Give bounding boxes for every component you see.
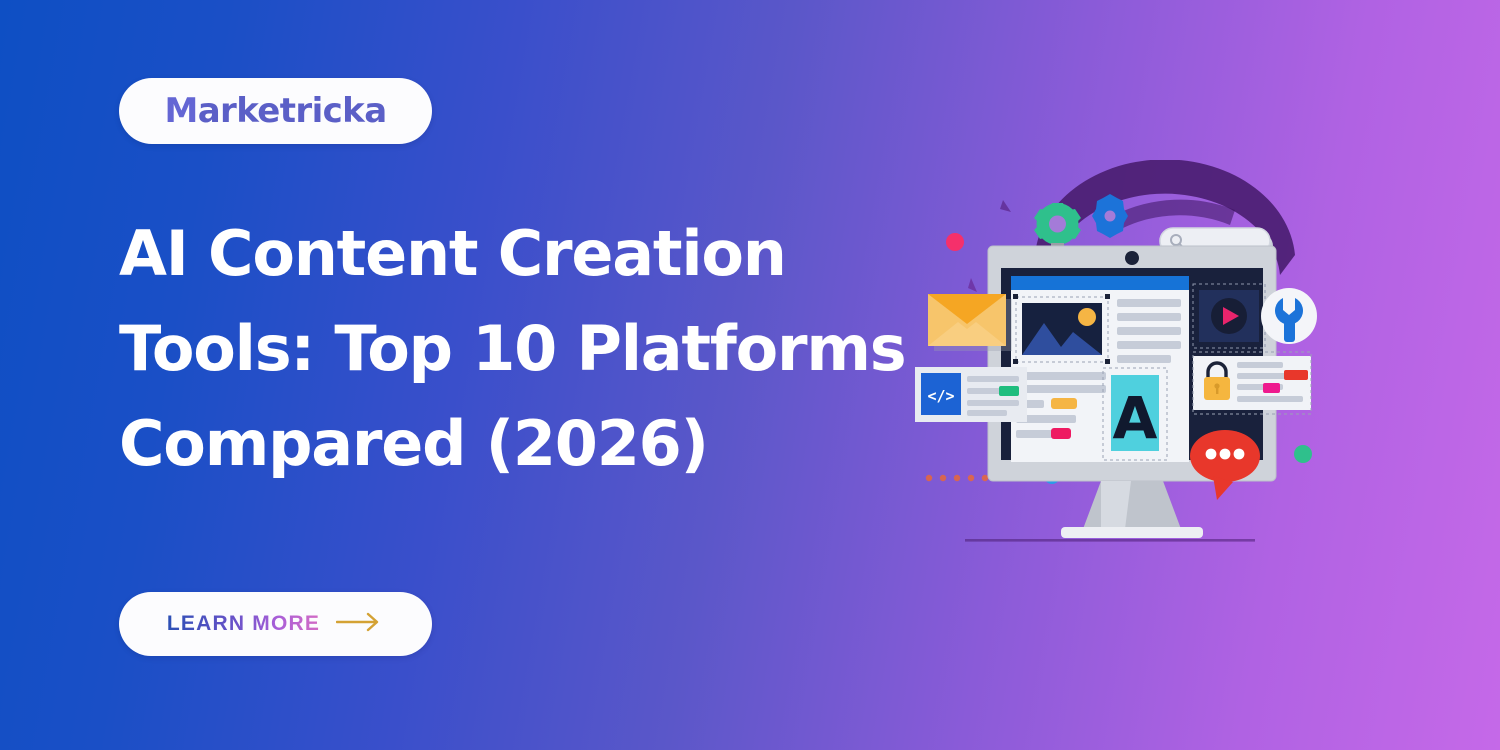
headline-block: AI Content Creation Tools: Top 10 Platfo… [119, 206, 929, 491]
headline-line-1: AI Content Creation [119, 206, 929, 301]
brand-logo-text: Marketricka [164, 91, 386, 131]
arrow-right-icon [336, 612, 384, 637]
dot-pink [946, 233, 964, 251]
lock-card [1193, 352, 1311, 414]
chip-orange [1051, 398, 1077, 409]
video-panel [1193, 284, 1265, 348]
brand-logo-initial: M [164, 91, 197, 131]
wrench-icon [1261, 288, 1317, 344]
chip-magenta [1263, 383, 1280, 393]
headline-line-2: Tools: Top 10 Platforms [119, 301, 929, 396]
browser-window: A [1011, 276, 1189, 462]
sun-dot [1078, 308, 1096, 326]
envelope-icon [928, 294, 1012, 351]
monitor-stand [1083, 481, 1181, 529]
code-card: </> [915, 367, 1027, 422]
chip-green [999, 386, 1019, 396]
spark-decoration-2 [1000, 200, 1011, 212]
svg-text:</>: </> [927, 387, 954, 405]
dot-green [1294, 445, 1312, 463]
learn-more-label: LEARN MORE [167, 612, 320, 636]
image-placeholder [1022, 303, 1102, 355]
promo-banner: Marketricka AI Content Creation Tools: T… [0, 0, 1500, 750]
monitor-camera-dot [1125, 251, 1139, 265]
brand-logo-pill[interactable]: Marketricka [119, 78, 432, 144]
spark-decoration [968, 278, 977, 292]
chip-red [1284, 370, 1308, 380]
speech-bubble-icon [1190, 430, 1260, 500]
svg-text:A: A [1113, 384, 1158, 452]
content-creation-workstation-illustration: A [905, 160, 1335, 555]
headline-line-3: Compared (2026) [119, 396, 929, 491]
desk-line [965, 539, 1255, 542]
chip-pink [1051, 428, 1071, 439]
learn-more-button[interactable]: LEARN MORE [119, 592, 432, 656]
browser-titlebar [1011, 276, 1189, 290]
monitor-base [1061, 527, 1203, 538]
brand-logo-rest: arketricka [198, 91, 387, 131]
typography-card-a: A [1103, 368, 1167, 460]
